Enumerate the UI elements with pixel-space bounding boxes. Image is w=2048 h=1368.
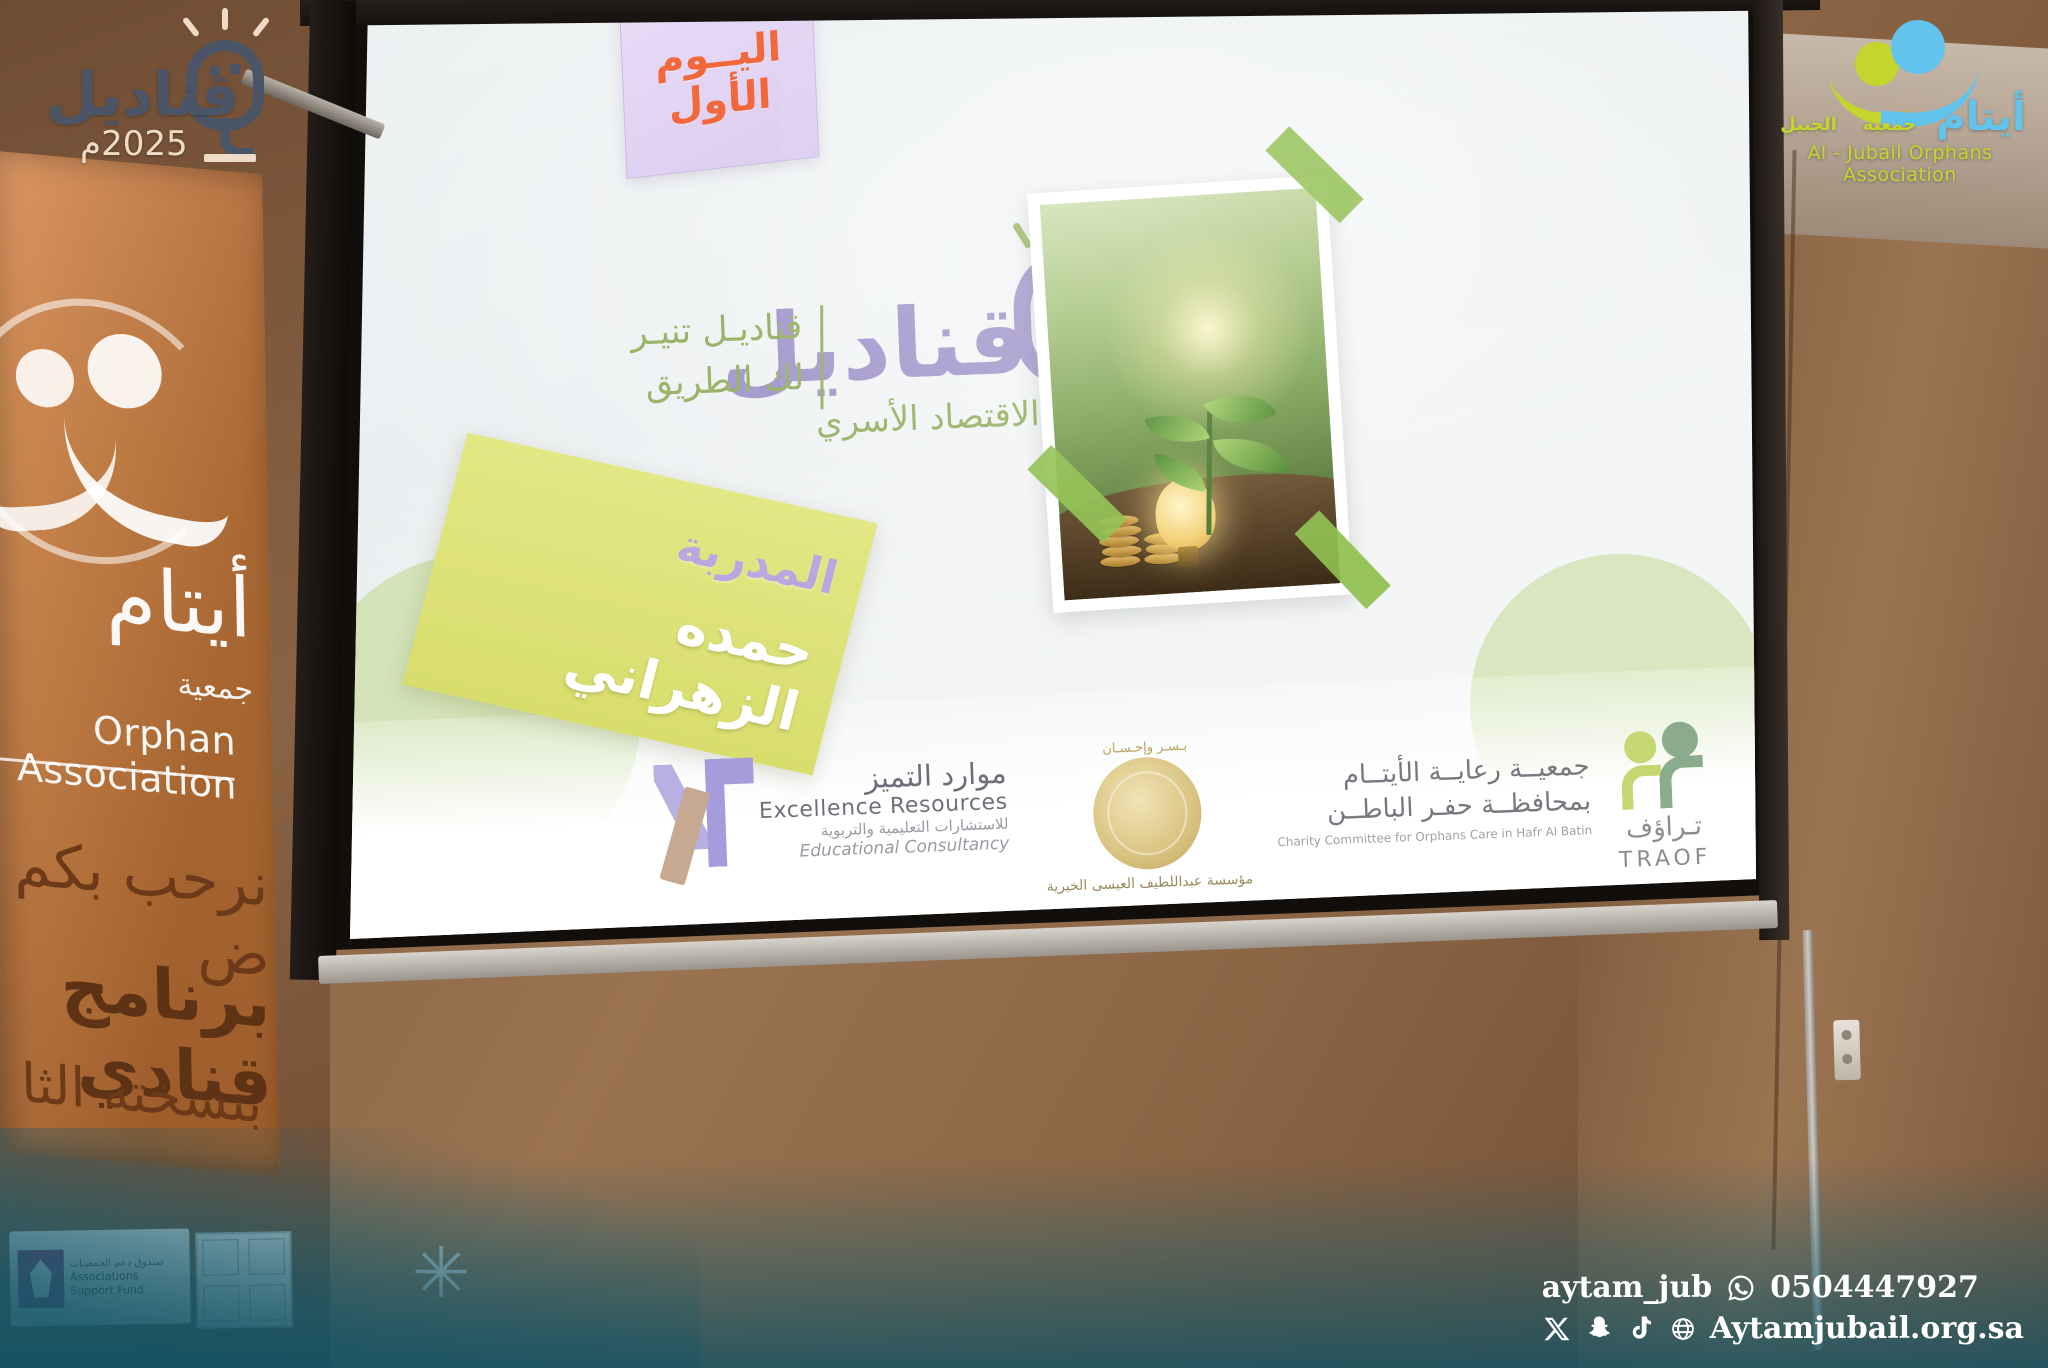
contact-overlay: aytam_jub 0504447927 Aytamjubai (1542, 1270, 2024, 1346)
lamp-ray (222, 8, 228, 30)
photo-leaf (1203, 377, 1276, 440)
fund-name-en: Associations Support Fund (70, 1269, 182, 1298)
watermark-brand-en: Al - Jubail Orphans Association (1766, 142, 2034, 186)
whatsapp-phone: 0504447927 (1770, 1270, 1979, 1305)
grid-cell (202, 1239, 239, 1276)
secondary-sponsor-logo (195, 1231, 293, 1329)
partner-hafr-albatin-orphans: جمعيــة رعايــة الأيتــام بمحافظــة حفـر… (1273, 723, 1592, 849)
seedling-coins-photo (1040, 188, 1340, 601)
person-head-blue (1891, 20, 1945, 74)
switch-button[interactable] (1841, 1030, 1851, 1040)
watermark-brand-ar: قناديل (46, 60, 239, 130)
partner-abdullatif-alissa: بـسـر وإحـسـان مؤسسة عبداللطيف العيسى ال… (1041, 736, 1253, 895)
traof-body-sage (1658, 755, 1704, 809)
partner-traof: تـراؤف TRAOF (1614, 719, 1712, 873)
grid-cell (248, 1238, 285, 1275)
day-badge: اليــوم الأول (619, 0, 820, 179)
seal-top-text: بـسـر وإحـسـان (1102, 739, 1187, 757)
trainer-role-label: المدربة (671, 518, 843, 605)
watermark-brand-ar: أيتام جمعية الجبيل (1766, 94, 2034, 140)
watermark-brand-word: أيتام (1936, 94, 2025, 140)
slide-photo-card (1027, 175, 1353, 613)
logo-divider (820, 305, 823, 409)
rollup-banner: أيتام جمعية Orphan Association نرحب بكم … (0, 150, 279, 1176)
social-handle: aytam_jub (1542, 1270, 1713, 1305)
contact-row-bottom: Aytamjubail.org.sa (1542, 1311, 2024, 1346)
fund-text: صندوق دعم الجمعيـات Associations Support… (70, 1256, 183, 1298)
traof-two-people-icon (1617, 719, 1706, 810)
fund-mark-icon (18, 1249, 65, 1308)
switch-button[interactable] (1842, 1054, 1852, 1064)
whatsapp-icon[interactable] (1726, 1273, 1756, 1303)
partner-name-en: TRAOF (1619, 845, 1712, 874)
asterisk-icon: ✳ (404, 1236, 478, 1310)
wall-switch[interactable] (1833, 1020, 1861, 1081)
projection-screen: اليــوم الأول قناديل الاقتصاد الأسري قنا… (350, 0, 1760, 969)
globe-icon[interactable] (1670, 1316, 1696, 1342)
x-icon[interactable] (1542, 1314, 1572, 1344)
partner-name-ar: مؤسسة عبداللطيف العيسى الخيرية (1046, 871, 1253, 895)
partner-excellence-resources: موارد التميز Excellence Resources للاستش… (647, 745, 1020, 879)
photo-leaf (1144, 404, 1210, 454)
qanadeel-slogan: قناديـل تنيـر لك الطريق (533, 302, 805, 414)
watermark-qanadeel: قناديل 2025م (22, 8, 292, 168)
tiktok-icon[interactable] (1626, 1314, 1656, 1344)
watermark-city-ar: الجبيل (1780, 114, 1837, 135)
lamp-base (204, 154, 256, 162)
lamp-ray (182, 16, 200, 37)
social-icons (1542, 1314, 1656, 1344)
excellence-resources-icon (647, 755, 762, 879)
grid-cell (203, 1285, 240, 1322)
traof-head-sage (1661, 721, 1698, 758)
partner-name-ar: تـراؤف (1626, 811, 1703, 844)
contact-row-top: aytam_jub 0504447927 (1542, 1270, 2024, 1305)
associations-support-fund-logo: صندوق دعم الجمعيـات Associations Support… (9, 1228, 191, 1326)
photo-plant-stem (1206, 405, 1212, 535)
slogan-line-2: لك الطريق (535, 353, 805, 414)
watermark-year: 2025م (80, 124, 188, 164)
snapchat-icon[interactable] (1584, 1314, 1614, 1344)
watermark-aytam-jubail: أيتام جمعية الجبيل Al - Jubail Orphans A… (1766, 6, 2034, 186)
traof-body-green (1621, 765, 1663, 811)
screenshot-root: أيتام جمعية Orphan Association نرحب بكم … (0, 0, 2048, 1368)
watermark-brand-small: جمعية (1863, 114, 1916, 135)
day-badge-line2: الأول (668, 74, 772, 126)
website-url: Aytamjubail.org.sa (1710, 1311, 2024, 1346)
qanadeel-tagline: الاقتصاد الأسري (815, 397, 1040, 440)
excellence-resources-text: موارد التميز Excellence Resources للاستش… (757, 758, 1009, 863)
grid-cell (249, 1284, 286, 1321)
traof-head-green (1623, 731, 1656, 764)
lamp-ray (252, 16, 270, 37)
gold-calligraphy-seal-icon (1091, 755, 1203, 871)
